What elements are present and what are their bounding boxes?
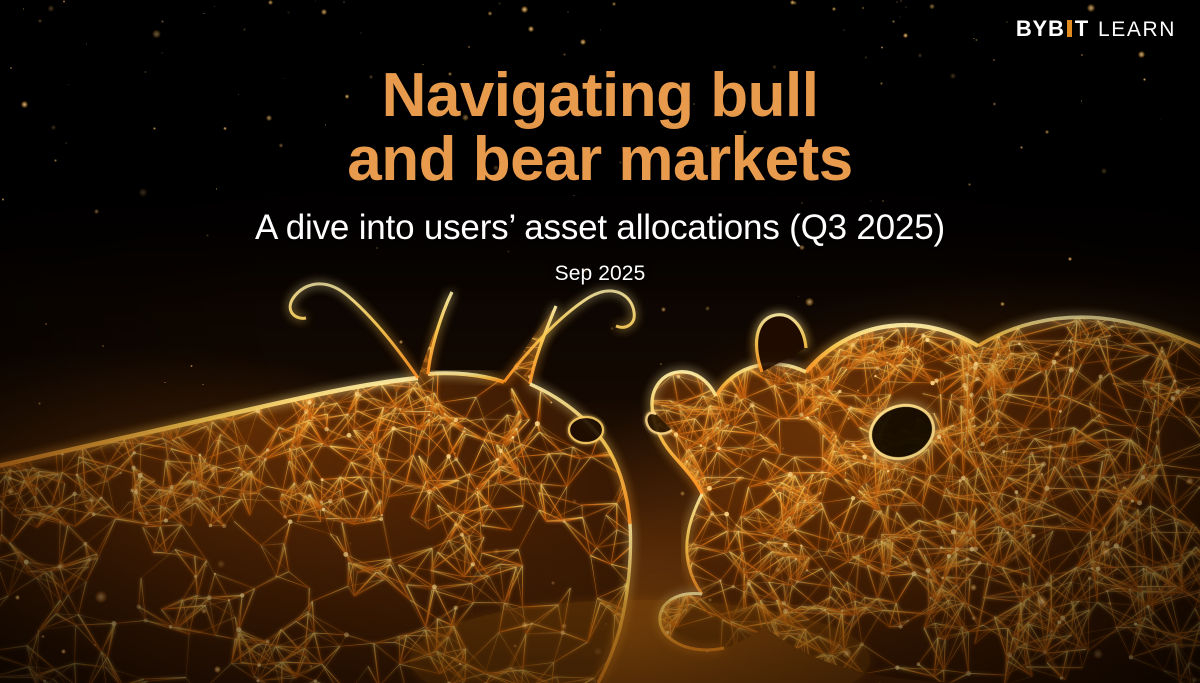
title-line-2: and bear markets	[0, 128, 1200, 192]
logo-text-t: T	[1075, 18, 1089, 40]
title-line-1: Navigating bull	[0, 64, 1200, 128]
bybit-learn-logo[interactable]: BYB T LEARN	[1016, 18, 1176, 40]
logo-text-byb: BYB	[1016, 18, 1065, 40]
hero-text-block: Navigating bull and bear markets A dive …	[0, 0, 1200, 286]
logo-i-bar-icon	[1067, 20, 1072, 37]
logo-text-learn: LEARN	[1098, 19, 1176, 40]
bybit-wordmark: BYB T	[1016, 18, 1089, 40]
page-title: Navigating bull and bear markets	[0, 64, 1200, 192]
slide-canvas: BYB T LEARN Navigating bull and bear mar…	[0, 0, 1200, 683]
page-subtitle: A dive into users’ asset allocations (Q3…	[0, 208, 1200, 248]
page-date: Sep 2025	[0, 262, 1200, 286]
